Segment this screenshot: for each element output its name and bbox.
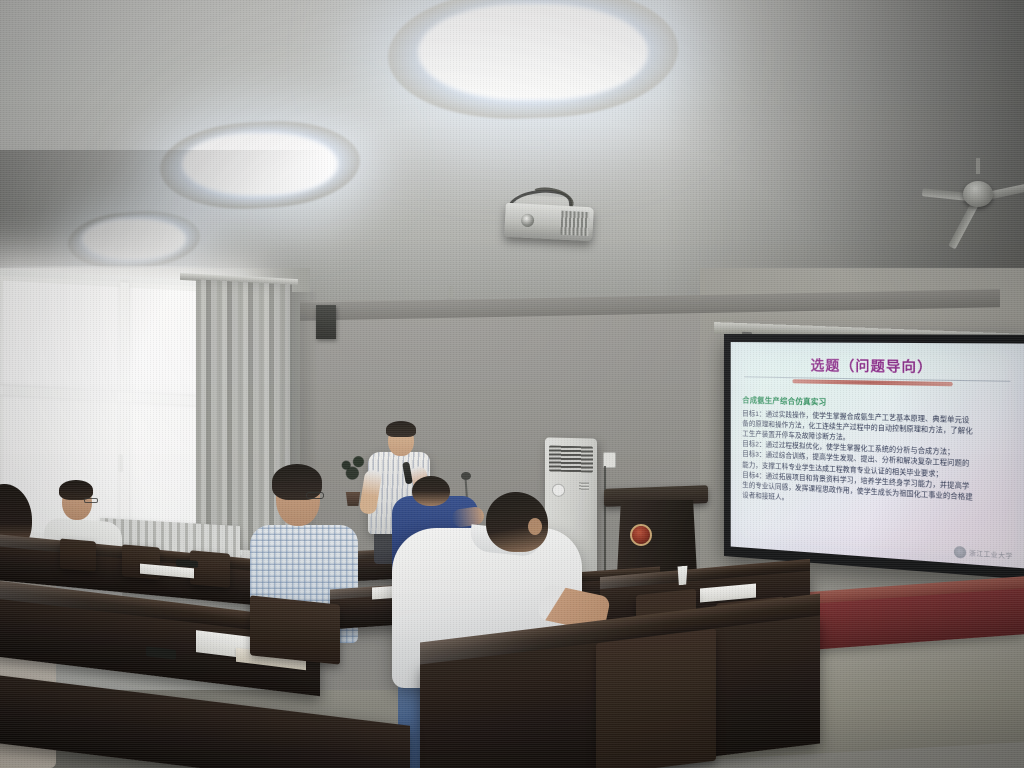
conference-room-photo: 选题（问题导向） 合成氨生产综合仿真实习 目标1：通过实践操作，使学生掌握合成氨…	[0, 0, 1024, 768]
projection-screen[interactable]: 选题（问题导向） 合成氨生产综合仿真实习 目标1：通过实践操作，使学生掌握合成氨…	[724, 334, 1024, 580]
university-logo-mark	[953, 546, 965, 559]
chair[interactable]	[190, 550, 230, 587]
chair[interactable]	[250, 595, 340, 664]
air-conditioner-grille	[549, 445, 593, 472]
lectern-emblem	[630, 524, 652, 546]
projected-slide: 选题（问题导向） 合成氨生产综合仿真实习 目标1：通过实践操作，使学生掌握合成氨…	[731, 342, 1024, 568]
attendee-polo-ear	[528, 518, 542, 535]
chair[interactable]	[596, 629, 716, 768]
ceiling-light-core-1	[418, 4, 648, 100]
wall-speaker	[316, 305, 336, 339]
air-conditioner-side-vent	[579, 482, 589, 490]
chair[interactable]	[60, 538, 96, 571]
slide-title: 选题（问题导向）	[742, 353, 1010, 377]
projector-lens	[521, 214, 535, 228]
ceiling-projector	[504, 203, 594, 242]
presenter-hair	[386, 421, 416, 437]
attendee-navy-head	[412, 476, 450, 506]
attendee-glasses-eyeglasses	[84, 498, 98, 503]
slide-body: 目标1：通过实践操作，使学生掌握合成氨生产工艺基本原理、典型单元设 备的原理和操…	[742, 409, 1010, 517]
air-conditioner-cord	[604, 466, 611, 584]
air-conditioner-control-panel[interactable]	[552, 484, 565, 497]
window-mullion-vertical	[120, 282, 129, 543]
fan-rod	[976, 158, 980, 174]
fan-hub	[963, 181, 993, 207]
ceiling-fan-right	[930, 158, 1024, 230]
university-logo-text: 浙江工业大学	[969, 548, 1013, 561]
attendee-checkered-eyeglasses	[306, 492, 324, 499]
projector-vents	[560, 211, 589, 236]
window-handle[interactable]	[118, 454, 123, 472]
attendee-glasses-hair	[59, 480, 93, 500]
microphone-head	[461, 472, 471, 480]
university-logo: 浙江工业大学	[953, 546, 1012, 562]
